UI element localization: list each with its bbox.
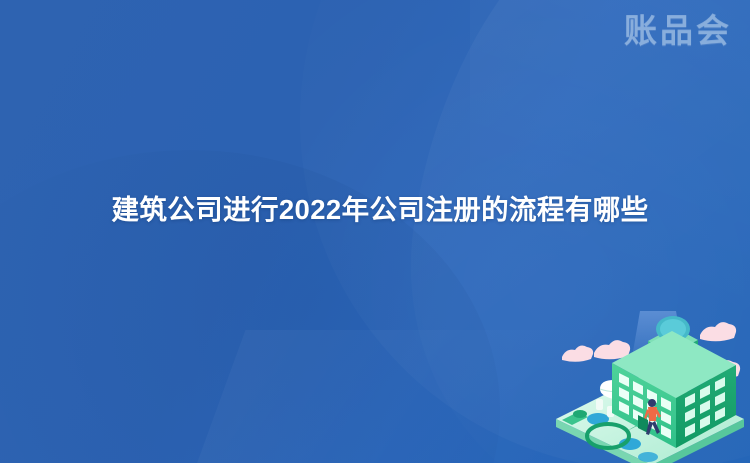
promo-banner: 账品会 建筑公司进行2022年公司注册的流程有哪些 [0, 0, 750, 463]
cloud-icon-left-1 [562, 346, 593, 362]
illustration-isometric-office-building [552, 303, 748, 463]
brand-logo-watermark: 账品会 [624, 14, 732, 47]
page-title: 建筑公司进行2022年公司注册的流程有哪些 [70, 190, 690, 230]
cloud-icon-right-1 [700, 322, 736, 341]
